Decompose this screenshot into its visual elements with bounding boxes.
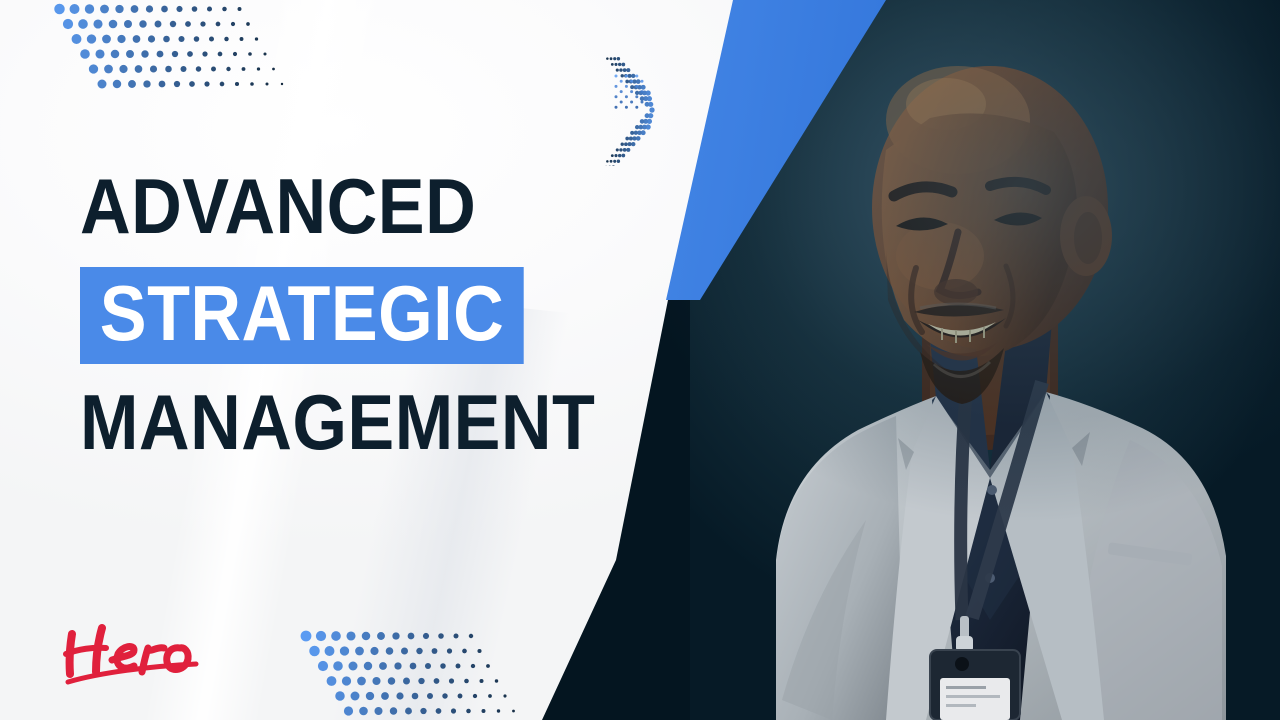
headline-line-2: STRATEGIC bbox=[100, 269, 504, 357]
hero-logo[interactable]: Hero bbox=[62, 620, 252, 692]
banner-canvas: ADVANCED STRATEGIC MANAGEMENT Hero bbox=[0, 0, 1280, 720]
headline-highlight-bar: STRATEGIC bbox=[80, 267, 524, 364]
headline-line-3: MANAGEMENT bbox=[80, 384, 584, 461]
headline-block: ADVANCED STRATEGIC MANAGEMENT bbox=[80, 168, 640, 462]
headline-line-1: ADVANCED bbox=[80, 168, 584, 245]
